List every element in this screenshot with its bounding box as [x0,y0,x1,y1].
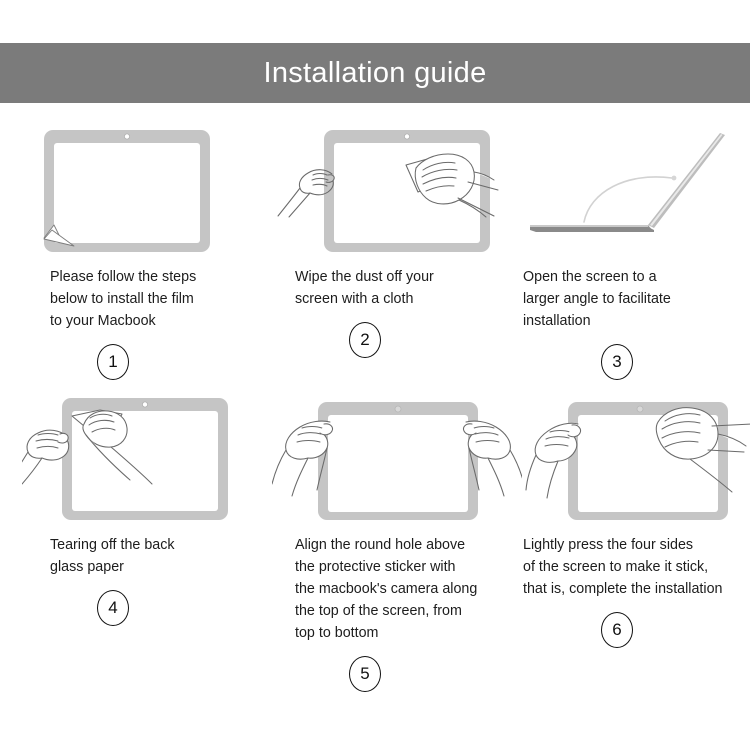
step-text-1: Please follow the steps below to install… [50,266,255,332]
step-text-3: Open the screen to a larger angle to fac… [523,266,743,332]
step-number-1: 1 [97,344,129,380]
step-cell-2: Wipe the dust off your screen with a clo… [250,120,500,388]
step-cell-5: Align the round hole above the protectiv… [250,388,500,700]
page-title: Installation guide [263,59,486,88]
step-number-row-2: 2 [260,310,490,366]
step-text-4: Tearing off the back glass paper [50,534,255,578]
illustration-step-3 [522,120,750,252]
steps-grid: Please follow the steps below to install… [0,120,750,700]
step-number-4: 4 [97,590,129,626]
step-text-5: Align the round hole above the protectiv… [295,534,510,644]
installation-guide-page: Installation guide Please follow [0,0,750,750]
illustration-step-5 [272,388,502,520]
step-number-3: 3 [601,344,633,380]
step-number-row-6: 6 [510,600,740,656]
header-banner: Installation guide [0,43,750,103]
step-number-row-1: 1 [10,332,240,388]
illustration-step-2 [272,120,502,252]
step-cell-6: Lightly press the four sides of the scre… [500,388,750,700]
left-hand-icon [22,430,69,484]
step-number-row-5: 5 [260,644,490,700]
illustration-step-4 [22,388,252,520]
step-text-2: Wipe the dust off your screen with a clo… [295,266,505,310]
step-cell-3: Open the screen to a larger angle to fac… [500,120,750,388]
step-number-2: 2 [349,322,381,358]
step-number-row-4: 4 [10,578,240,634]
step-cell-1: Please follow the steps below to install… [0,120,250,388]
step-cell-4: Tearing off the back glass paper 4 [0,388,250,700]
tablet-frame-icon [44,130,210,252]
step-text-6: Lightly press the four sides of the scre… [523,534,750,600]
illustration-step-1 [22,120,252,252]
tablet-frame-icon [318,402,478,520]
laptop-base-icon [530,225,654,232]
step-number-5: 5 [349,656,381,692]
hinge-dot-icon [672,176,677,181]
laptop-screen-icon [648,133,725,228]
step-number-6: 6 [601,612,633,648]
step-number-row-3: 3 [510,332,740,388]
illustration-step-6 [522,388,750,520]
